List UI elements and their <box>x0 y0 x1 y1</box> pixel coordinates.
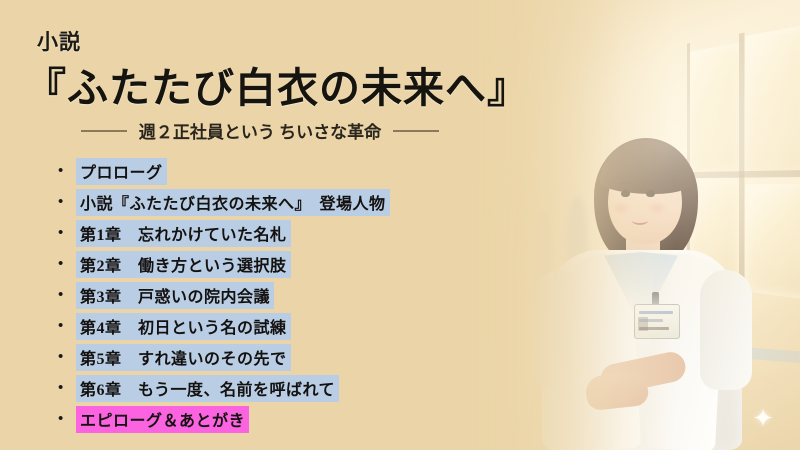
bullet-icon: • <box>58 226 76 241</box>
list-item[interactable]: • 第4章 初日という名の試練 <box>58 311 390 342</box>
badge-text-line <box>639 327 669 330</box>
eye <box>621 190 630 197</box>
list-item-label: プロローグ <box>76 158 167 185</box>
nurse-figure <box>542 122 742 450</box>
text-column: 小説 『ふたたび白衣の未来へ』 週２正社員という ちいさな革命 • プロローグ … <box>0 0 520 450</box>
list-item-label: 第5章 すれ違いのその先で <box>76 344 291 371</box>
subtitle-text: 週２正社員という ちいさな革命 <box>139 118 381 143</box>
cheek-blush <box>614 204 628 212</box>
coat-sleeve-right <box>700 270 752 390</box>
subtitle-row: 週２正社員という ちいさな革命 <box>25 118 495 143</box>
list-item[interactable]: • エピローグ＆あとがき <box>58 404 390 435</box>
list-item-label: 第1章 忘れかけていた名札 <box>76 220 291 247</box>
list-item-label: 第2章 働き方という選択肢 <box>76 251 291 278</box>
list-item-label: 小説『ふたたび白衣の未来へ』 登場人物 <box>76 189 390 216</box>
list-item[interactable]: • 第3章 戸惑いの院内会議 <box>58 280 390 311</box>
bullet-icon: • <box>58 381 76 396</box>
bullet-icon: • <box>58 195 76 210</box>
badge-text-line <box>639 319 663 322</box>
page-title: 『ふたたび白衣の未来へ』 <box>25 54 515 114</box>
sparkle-icon: ✦ <box>750 406 776 432</box>
list-item-label: 第6章 もう一度、名前を呼ばれて <box>76 375 339 402</box>
badge-text-line <box>639 311 673 314</box>
window-pane <box>745 24 800 177</box>
id-badge <box>634 304 680 339</box>
mouth <box>632 216 648 225</box>
rule-left-decoration <box>81 130 127 132</box>
kicker-label: 小説 <box>37 26 81 56</box>
list-item[interactable]: • 第1章 忘れかけていた名札 <box>58 218 390 249</box>
list-item-label: 第3章 戸惑いの院内会議 <box>76 282 274 309</box>
hair-fringe <box>600 140 692 194</box>
list-item[interactable]: • プロローグ <box>58 156 390 187</box>
bullet-icon: • <box>58 164 76 179</box>
bullet-icon: • <box>58 412 76 427</box>
bullet-icon: • <box>58 288 76 303</box>
cheek-blush <box>650 204 664 212</box>
table-of-contents: • プロローグ • 小説『ふたたび白衣の未来へ』 登場人物 • 第1章 忘れかけ… <box>58 156 390 435</box>
bullet-icon: • <box>58 350 76 365</box>
bullet-icon: • <box>58 257 76 272</box>
window-pane <box>745 184 800 300</box>
list-item[interactable]: • 第6章 もう一度、名前を呼ばれて <box>58 373 390 404</box>
rule-right-decoration <box>393 130 439 132</box>
list-item[interactable]: • 第2章 働き方という選択肢 <box>58 249 390 280</box>
slide-canvas: ✦ 小説 『ふたたび白衣の未来へ』 週２正社員という ちいさな革命 • プロロー… <box>0 0 800 450</box>
list-item[interactable]: • 第5章 すれ違いのその先で <box>58 342 390 373</box>
eye <box>646 190 655 197</box>
bullet-icon: • <box>58 319 76 334</box>
list-item-label: エピローグ＆あとがき <box>76 406 249 433</box>
coat-sleeve-left <box>534 270 586 390</box>
list-item-label: 第4章 初日という名の試練 <box>76 313 291 340</box>
list-item[interactable]: • 小説『ふたたび白衣の未来へ』 登場人物 <box>58 187 390 218</box>
clasped-hands <box>584 371 649 411</box>
